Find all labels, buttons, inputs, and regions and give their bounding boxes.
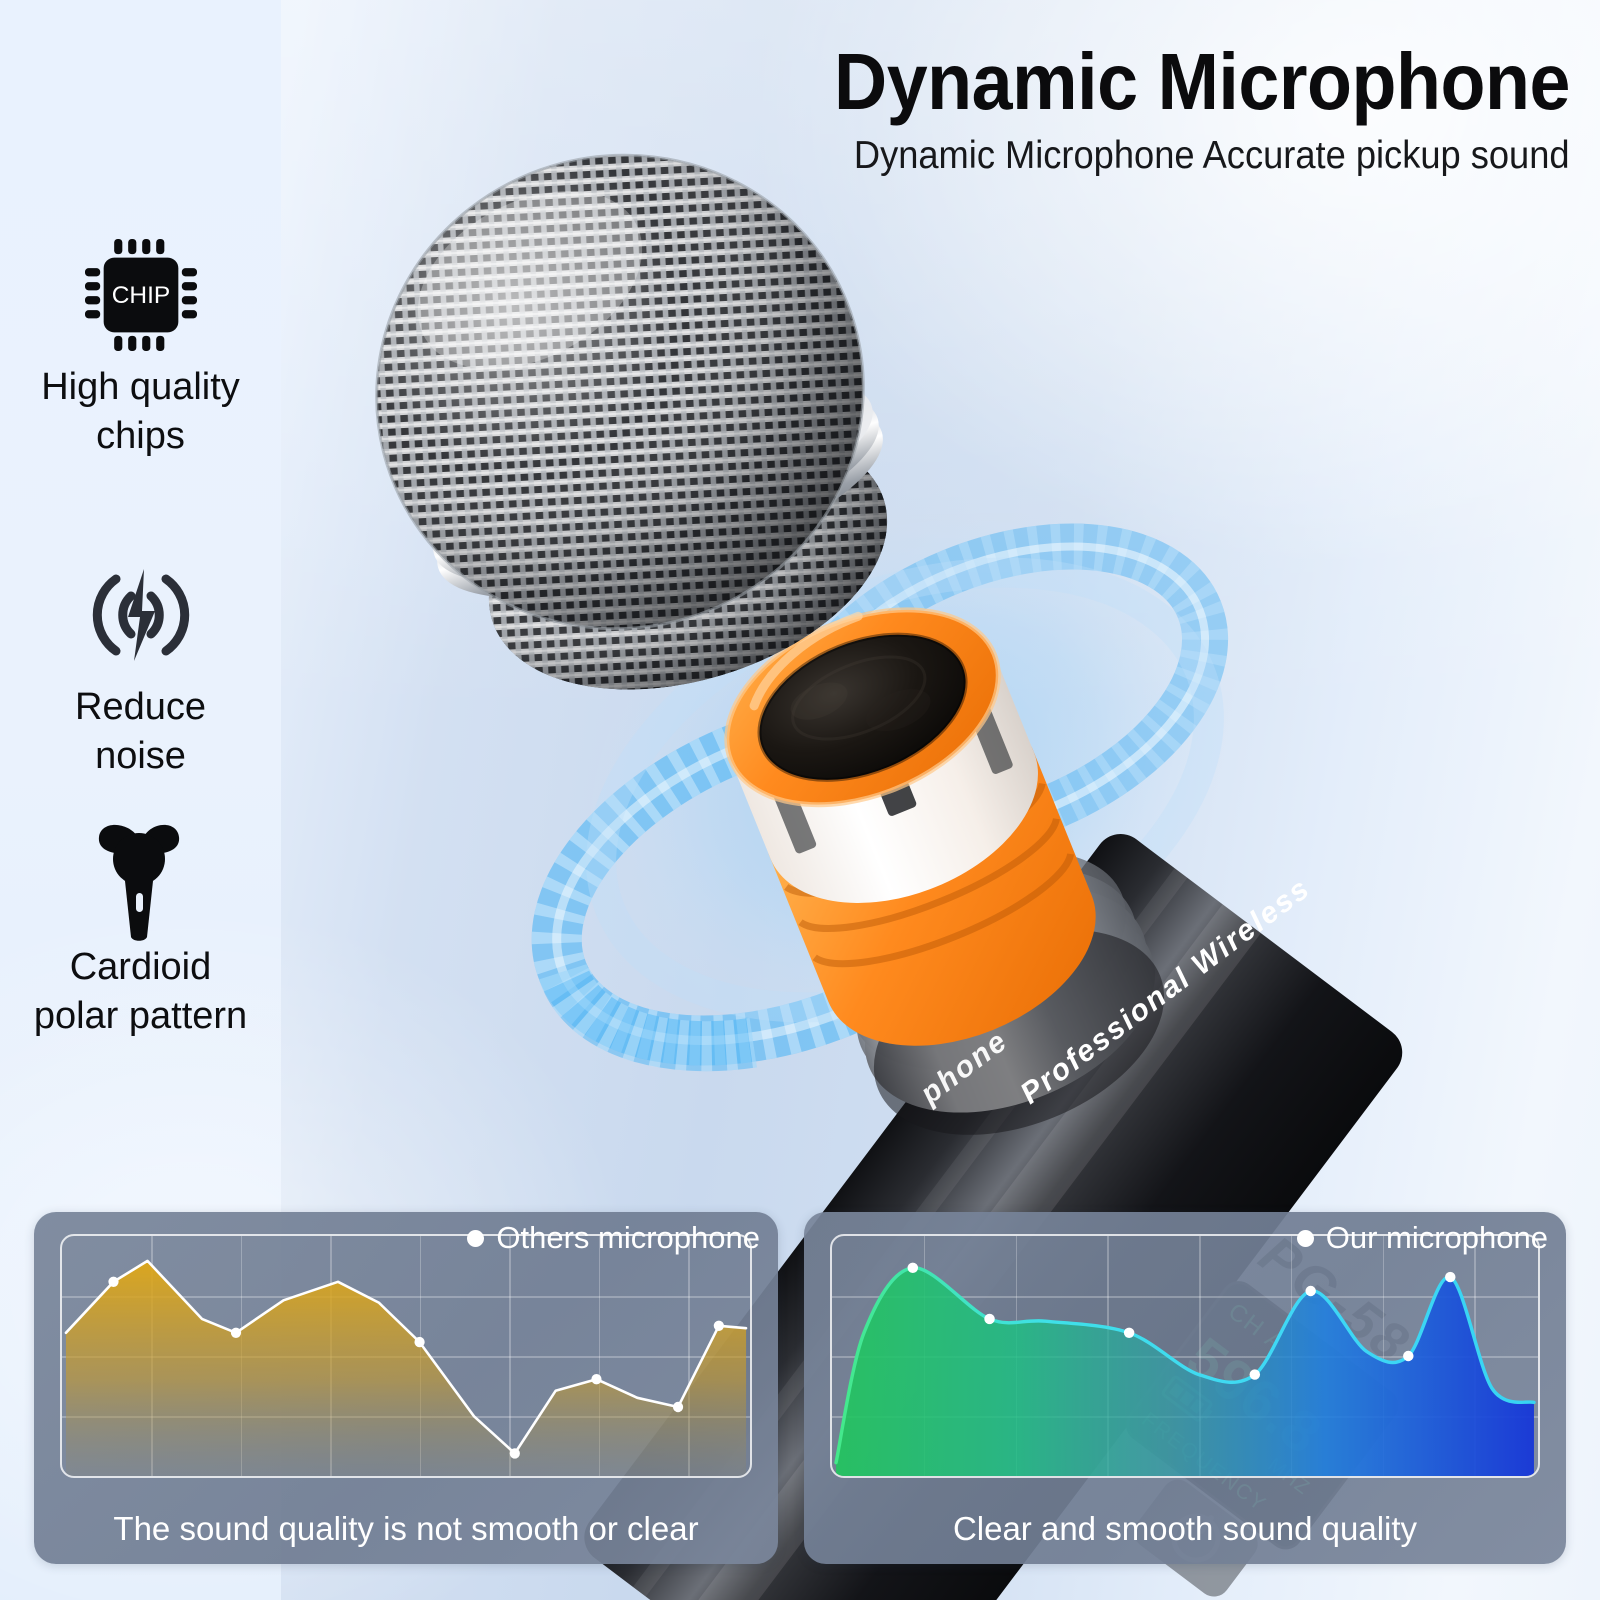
- chip-icon-text: CHIP: [111, 282, 170, 309]
- sound-wave-front-arc: [563, 916, 754, 1099]
- feature-label: Reduce noise: [0, 683, 281, 780]
- microphone-capsule: [698, 572, 1125, 1083]
- brand-text-professional-wireless: Professional Wireless: [1014, 871, 1316, 1110]
- chart-others-plot: [62, 1236, 750, 1476]
- brand-text-microphone: phone: [914, 1024, 1015, 1111]
- infographic-canvas: Professional Wireless phone PG-58 CH A 5…: [0, 0, 1600, 1600]
- chart-ours: [830, 1234, 1540, 1478]
- feature-item-high-quality-chips: CHIP High quality chips: [0, 235, 281, 460]
- chart-ours-caption: Clear and smooth sound quality: [804, 1510, 1566, 1548]
- feature-label: Cardioid polar pattern: [0, 943, 281, 1040]
- handle-branding: Professional Wireless phone: [914, 871, 1317, 1111]
- page-title: Dynamic Microphone: [834, 36, 1570, 128]
- sound-wave-rings: [505, 415, 1304, 1126]
- comparison-card-others: Others microphone The sound quality is n…: [34, 1212, 778, 1564]
- chart-others-legend: Others microphone: [467, 1220, 760, 1256]
- legend-label: Our microphone: [1326, 1220, 1548, 1256]
- noise-wave-icon: [0, 555, 281, 675]
- microphone-collar: [812, 811, 1195, 1174]
- feature-item-reduce-noise: Reduce noise: [0, 555, 281, 780]
- header: Dynamic Microphone Dynamic Microphone Ac…: [640, 0, 1580, 210]
- legend-dot: [467, 1230, 484, 1247]
- comparison-card-ours: Our microphone Clear and smooth sound qu…: [804, 1212, 1566, 1564]
- chart-others-caption: The sound quality is not smooth or clear: [34, 1510, 778, 1548]
- chart-ours-plot: [832, 1236, 1538, 1476]
- legend-dot: [1297, 1230, 1314, 1247]
- chip-icon: CHIP: [0, 235, 281, 355]
- feature-label: High quality chips: [0, 363, 281, 460]
- chart-others: [60, 1234, 752, 1478]
- feature-item-cardioid-polar-pattern: Cardioid polar pattern: [0, 815, 281, 1040]
- page-subtitle: Dynamic Microphone Accurate pickup sound: [854, 134, 1570, 178]
- legend-label: Others microphone: [496, 1220, 760, 1256]
- chart-ours-legend: Our microphone: [1297, 1220, 1548, 1256]
- cardioid-mic-icon: [0, 815, 281, 935]
